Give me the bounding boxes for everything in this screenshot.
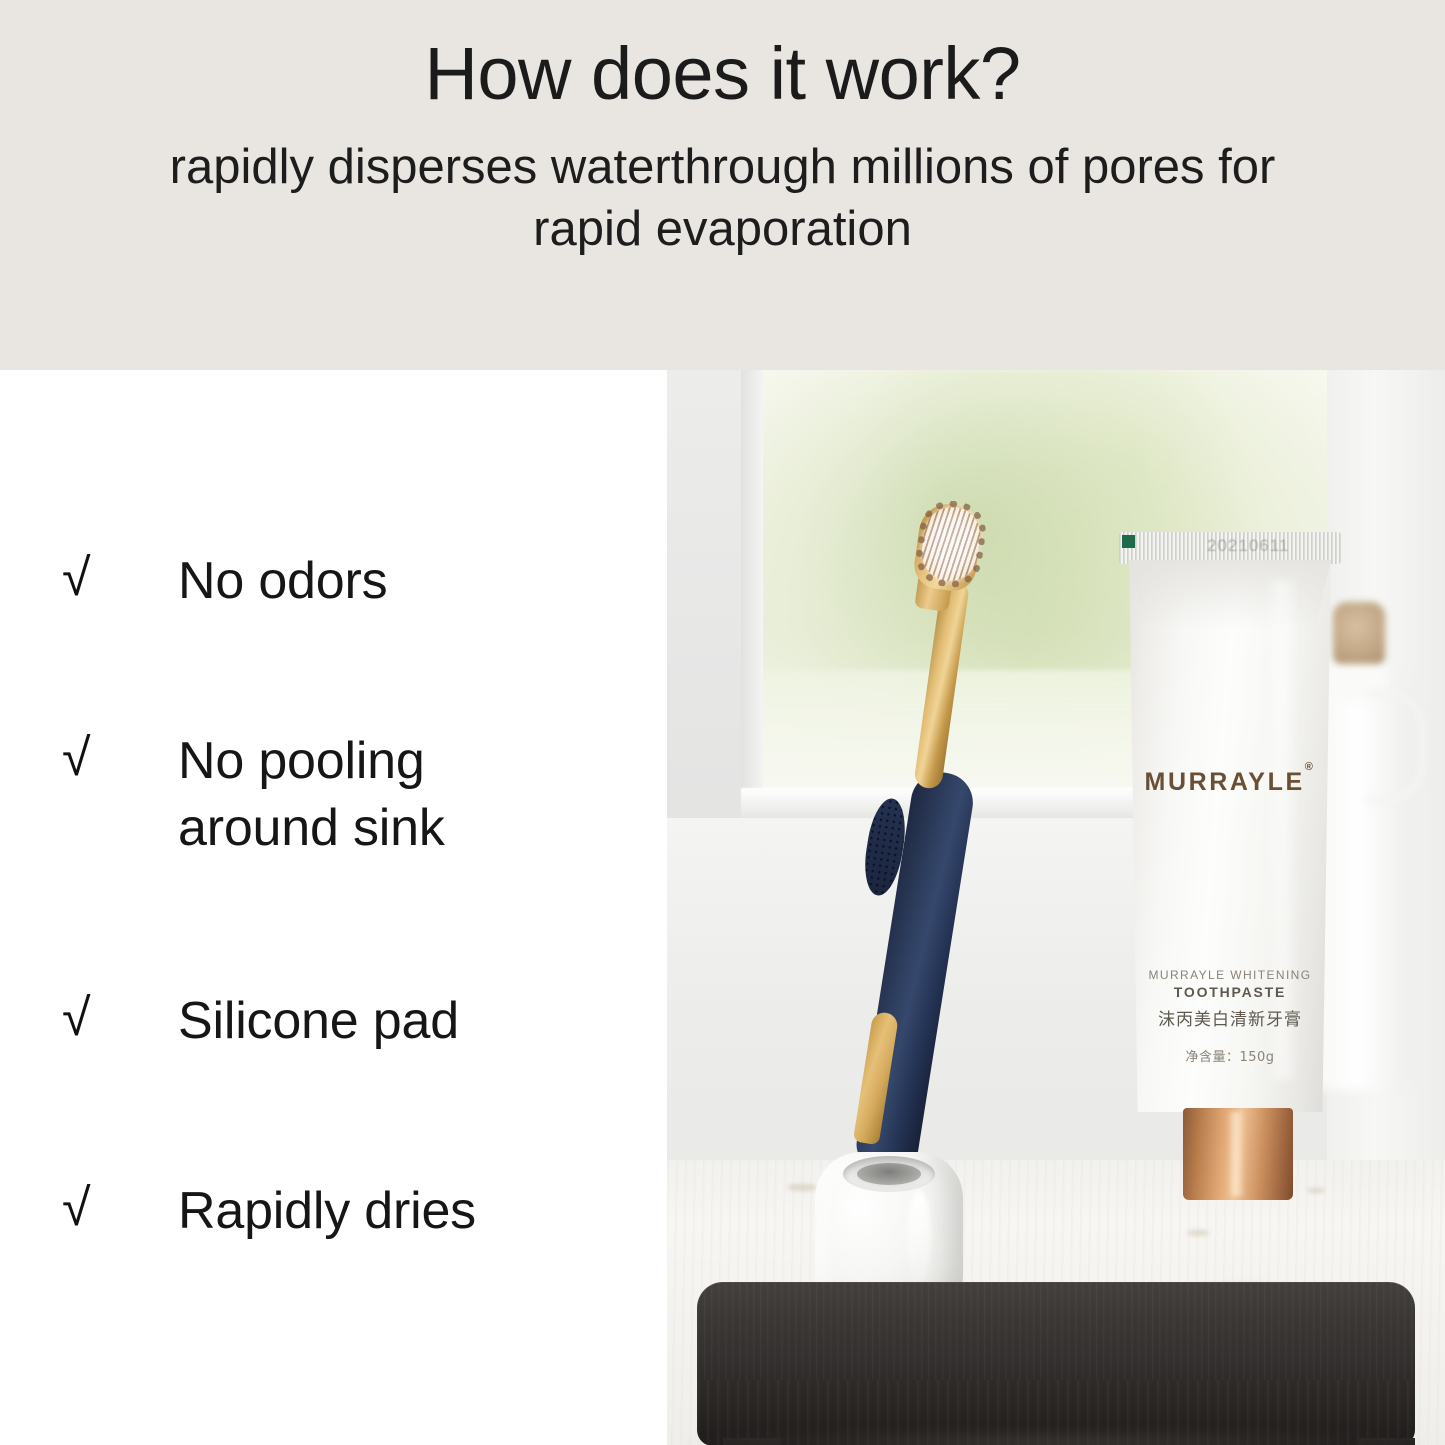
- background-jar-handle: [1367, 690, 1426, 804]
- product-photo: 20210611 MURRAYLE® MURRAYLE WHITENING TO…: [667, 370, 1445, 1445]
- toothpaste-tube-shoulder: [1129, 560, 1331, 630]
- checkmark-icon: √: [62, 728, 130, 784]
- toothpaste-crimp-green-mark: [1122, 535, 1135, 548]
- feature-label: No pooling around sink: [130, 728, 445, 861]
- toothpaste-label-line1: MURRAYLE WHITENING: [1125, 968, 1335, 982]
- checkmark-icon: √: [62, 1178, 130, 1234]
- toothpaste-batch-code: 20210611: [1207, 536, 1327, 554]
- checkmark-icon: √: [62, 548, 130, 604]
- toothpaste-label-block: MURRAYLE WHITENING TOOTHPASTE 沫丙美白清新牙膏 净…: [1125, 968, 1335, 1065]
- list-item: √ Rapidly dries: [62, 1178, 662, 1245]
- infographic-page: How does it work? rapidly disperses wate…: [0, 0, 1445, 1445]
- page-subtitle: rapidly disperses waterthrough millions …: [133, 137, 1313, 260]
- checkmark-icon: √: [62, 988, 130, 1044]
- header-band: How does it work? rapidly disperses wate…: [0, 0, 1445, 370]
- toothpaste-brand-logo: MURRAYLE®: [1125, 768, 1335, 797]
- background-jar-lid: [1333, 602, 1385, 664]
- feature-label: Silicone pad: [130, 988, 459, 1055]
- toothpaste-brand-text: MURRAYLE: [1145, 768, 1305, 796]
- toothpaste-label-line2: TOOTHPASTE: [1125, 984, 1335, 1000]
- list-item: √ Silicone pad: [62, 988, 662, 1055]
- toothbrush-holder-highlight: [907, 1190, 931, 1286]
- list-item: √ No pooling around sink: [62, 728, 662, 861]
- feature-label: No odors: [130, 548, 387, 615]
- feature-label: Rapidly dries: [130, 1178, 476, 1245]
- window-frame: [741, 370, 763, 840]
- toothpaste-net-weight: 净含量：150g: [1125, 1046, 1335, 1065]
- toothbrush-holder-opening: [857, 1163, 921, 1185]
- list-item: √ No odors: [62, 548, 662, 615]
- feature-list: √ No odors √ No pooling around sink √ Si…: [0, 370, 667, 1445]
- toothpaste-label-line3-cn: 沫丙美白清新牙膏: [1125, 1005, 1335, 1030]
- toothpaste-cap-highlight: [1227, 1112, 1245, 1196]
- stone-tray-surface: [697, 1282, 1415, 1390]
- page-title: How does it work?: [424, 36, 1020, 111]
- registered-mark-icon: ®: [1305, 761, 1316, 773]
- stone-tray-shadow: [685, 1432, 1427, 1445]
